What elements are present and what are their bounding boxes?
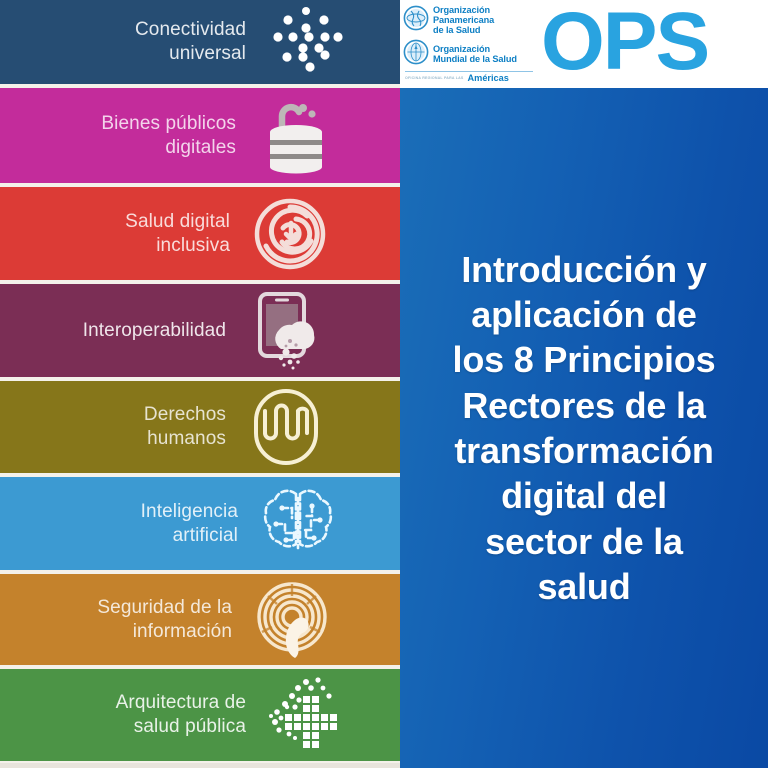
principle-band-salud-digital-inclusiva[interactable]: Salud digital inclusiva bbox=[0, 185, 400, 282]
ops-acronym: OPS bbox=[535, 12, 768, 77]
principle-band-arquitectura-de-salud-publica[interactable]: Arquitectura de salud pública bbox=[0, 667, 400, 763]
paho-line-1: Organización bbox=[433, 5, 494, 15]
fingerprint-oval-icon bbox=[238, 384, 334, 470]
ops-acronym-text: OPS bbox=[541, 8, 708, 77]
ai-brain-circuit-icon bbox=[250, 481, 346, 567]
who-seal-icon bbox=[403, 39, 429, 70]
principle-label: Derechos humanos bbox=[10, 403, 238, 451]
principle-band-conectividad-universal[interactable]: Conectividad universal bbox=[0, 0, 400, 86]
who-name: Organización Mundial de la Salud bbox=[433, 44, 517, 65]
logo-micro-text: OFICINA REGIONAL PARA LAS bbox=[405, 76, 464, 80]
principle-label: Inteligencia artificial bbox=[10, 500, 250, 548]
principle-band-bienes-publicos-digitales[interactable]: Bienes públicos digitales bbox=[0, 86, 400, 185]
who-logo-row: Organización Mundial de la Salud bbox=[403, 39, 535, 70]
principle-band-seguridad-de-la-informacion[interactable]: Seguridad de la información bbox=[0, 572, 400, 667]
spiral-target-icon bbox=[242, 191, 338, 277]
principle-label: Bienes públicos digitales bbox=[10, 112, 248, 160]
principle-label: Salud digital inclusiva bbox=[10, 210, 242, 258]
paho-line-2: Panamericana bbox=[433, 15, 494, 25]
logo-divider bbox=[405, 71, 533, 72]
title-panel: Organización Panamericana de la Salud bbox=[400, 0, 768, 768]
logo-americas-text: Américas bbox=[468, 73, 509, 83]
paho-line-3: de la Salud bbox=[433, 25, 494, 35]
principle-label: Arquitectura de salud pública bbox=[10, 691, 258, 739]
principle-label: Conectividad universal bbox=[10, 18, 258, 66]
database-unlock-icon bbox=[248, 93, 344, 179]
principle-band-derechos-humanos[interactable]: Derechos humanos bbox=[0, 379, 400, 475]
network-dots-icon bbox=[258, 0, 354, 85]
principle-band-interoperabilidad[interactable]: Interoperabilidad bbox=[0, 282, 400, 379]
principles-column: Conectividad universal bbox=[0, 0, 400, 768]
paho-seal-icon bbox=[403, 5, 429, 36]
pixel-cross-tree-icon bbox=[258, 672, 354, 758]
principle-label: Interoperabilidad bbox=[10, 319, 238, 343]
slide-root: Conectividad universal bbox=[0, 0, 768, 768]
who-line-2: Mundial de la Salud bbox=[433, 54, 517, 64]
principle-label: Seguridad de la información bbox=[10, 596, 244, 644]
principle-band-inteligencia-artificial[interactable]: Inteligencia artificial bbox=[0, 475, 400, 572]
logo-marks: Organización Panamericana de la Salud bbox=[400, 5, 535, 84]
title-block: Introducción y aplicación de los 8 Princ… bbox=[400, 88, 768, 768]
who-line-1: Organización bbox=[433, 44, 517, 54]
page-title: Introducción y aplicación de los 8 Princ… bbox=[453, 247, 716, 610]
paho-name: Organización Panamericana de la Salud bbox=[433, 5, 494, 36]
logo-region-row: OFICINA REGIONAL PARA LAS Américas bbox=[403, 73, 535, 83]
phone-cloud-icon bbox=[238, 288, 334, 374]
paho-who-logo[interactable]: Organización Panamericana de la Salud bbox=[400, 0, 768, 88]
fingerprint-icon bbox=[244, 577, 340, 663]
paho-logo-row: Organización Panamericana de la Salud bbox=[403, 5, 535, 36]
